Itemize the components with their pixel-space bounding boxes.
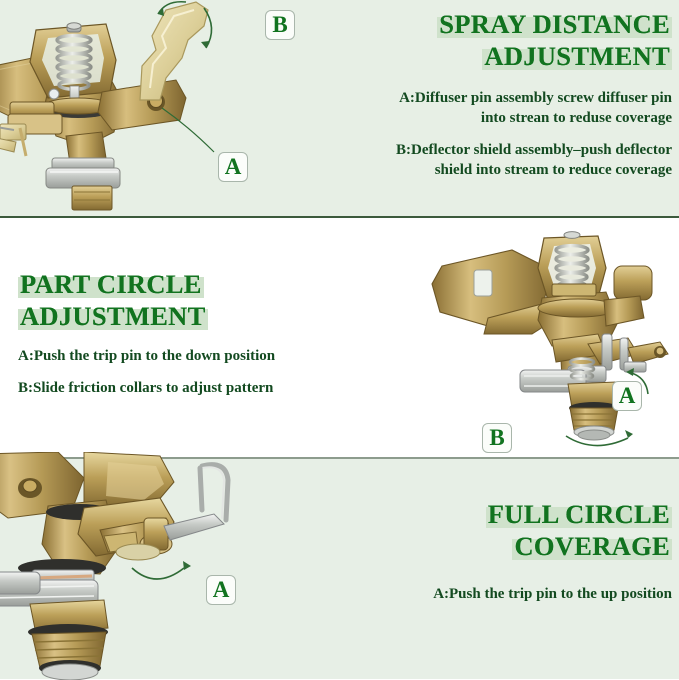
- sprinkler-image-spray-distance: [0, 0, 290, 217]
- spray-distance-heading: SPRAY DISTANCE ADJUSTMENT: [392, 8, 672, 72]
- section-spray-distance: B A SPRAY DISTANCE ADJUSTMENT A:Diffuser…: [0, 0, 679, 217]
- callout-badge-a: A: [612, 381, 642, 411]
- full-circle-heading: FULL CIRCLE COVERAGE: [360, 498, 672, 562]
- spray-distance-paragraph-a: A:Diffuser pin assembly screw diffuser p…: [392, 88, 672, 128]
- part-circle-heading-line1: PART CIRCLE: [18, 269, 204, 299]
- spray-distance-heading-line1: SPRAY DISTANCE: [437, 9, 672, 39]
- instruction-sheet: B A SPRAY DISTANCE ADJUSTMENT A:Diffuser…: [0, 0, 679, 679]
- sprinkler-image-full-circle: [0, 452, 298, 680]
- full-circle-heading-line2: COVERAGE: [512, 531, 672, 561]
- callout-badge-a: A: [206, 575, 236, 605]
- part-circle-heading: PART CIRCLE ADJUSTMENT: [18, 268, 318, 332]
- callout-badge-a: A: [218, 152, 248, 182]
- spray-distance-paragraph-b: B:Deflector shield assembly–push deflect…: [392, 140, 672, 180]
- callout-badge-b: B: [482, 423, 512, 453]
- spray-distance-heading-line2: ADJUSTMENT: [482, 41, 672, 71]
- full-circle-text-block: FULL CIRCLE COVERAGE A:Push the trip pin…: [360, 498, 672, 604]
- part-circle-text-block: PART CIRCLE ADJUSTMENT A:Push the trip p…: [18, 268, 318, 398]
- part-circle-paragraph-a: A:Push the trip pin to the down position: [18, 346, 318, 366]
- spray-distance-text-block: SPRAY DISTANCE ADJUSTMENT A:Diffuser pin…: [392, 8, 672, 180]
- full-circle-heading-line1: FULL CIRCLE: [486, 499, 672, 529]
- callout-badge-b: B: [265, 10, 295, 40]
- sprinkler-image-part-circle: [392, 222, 679, 458]
- part-circle-heading-line2: ADJUSTMENT: [18, 301, 208, 331]
- full-circle-paragraph-a: A:Push the trip pin to the up position: [360, 584, 672, 604]
- part-circle-paragraph-b: B:Slide friction collars to adjust patte…: [18, 378, 318, 398]
